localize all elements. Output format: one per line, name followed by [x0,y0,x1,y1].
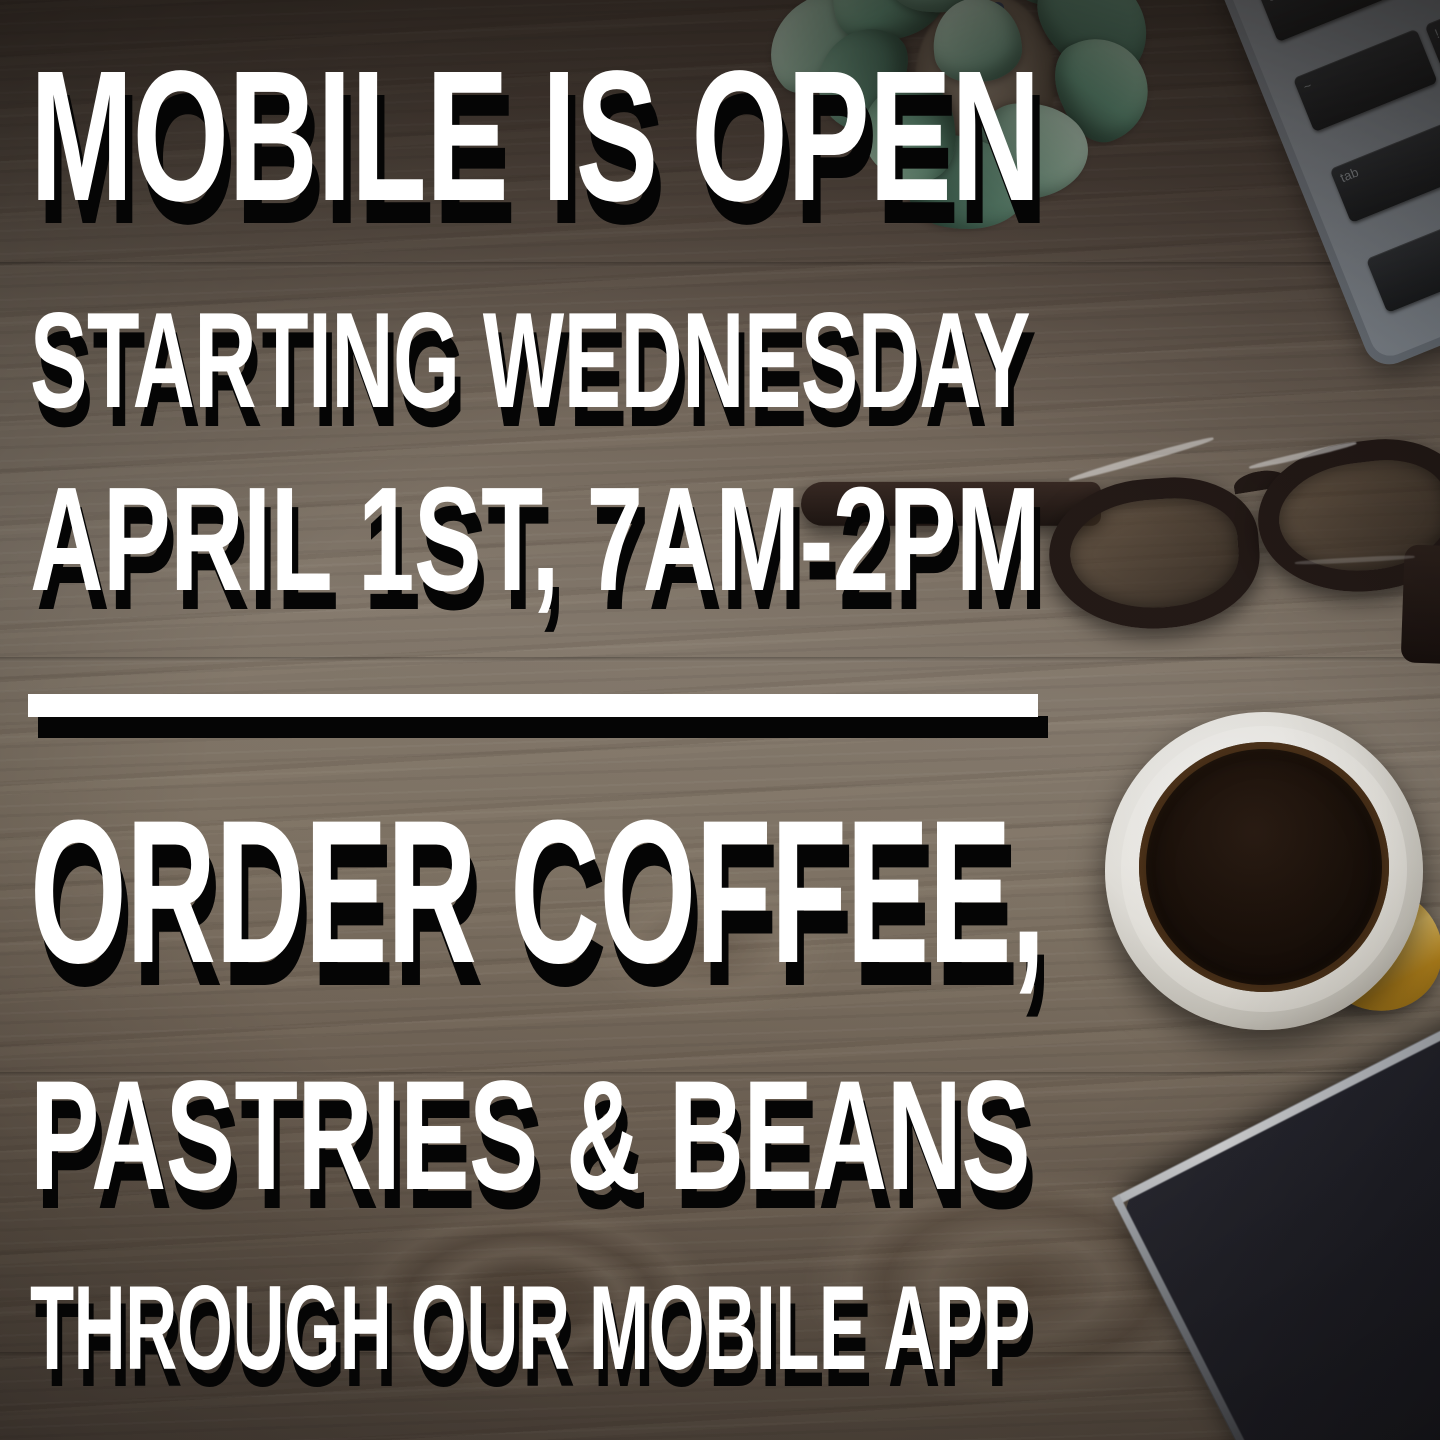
divider-rule-shadow [38,716,1048,738]
poster-headline: MOBILE IS OPEN [30,44,1040,230]
poster-canvas: esc ~ ! tab [0,0,1440,1440]
poster-cta-line-3: THROUGH OUR MOBILE APP [30,1268,1030,1388]
divider-rule [28,694,1040,736]
poster-cta-line-2: PASTRIES & BEANS [30,1058,1030,1214]
poster-cta-line-1: ORDER COFFEE, [30,790,1045,994]
poster-text-layer: MOBILE IS OPEN STARTING WEDNESDAY APRIL … [0,0,1440,1440]
poster-subline-date-hours: APRIL 1ST, 7AM-2PM [30,466,1040,614]
poster-subline-start-day: STARTING WEDNESDAY [30,292,1030,428]
divider-rule-bar [28,694,1038,717]
